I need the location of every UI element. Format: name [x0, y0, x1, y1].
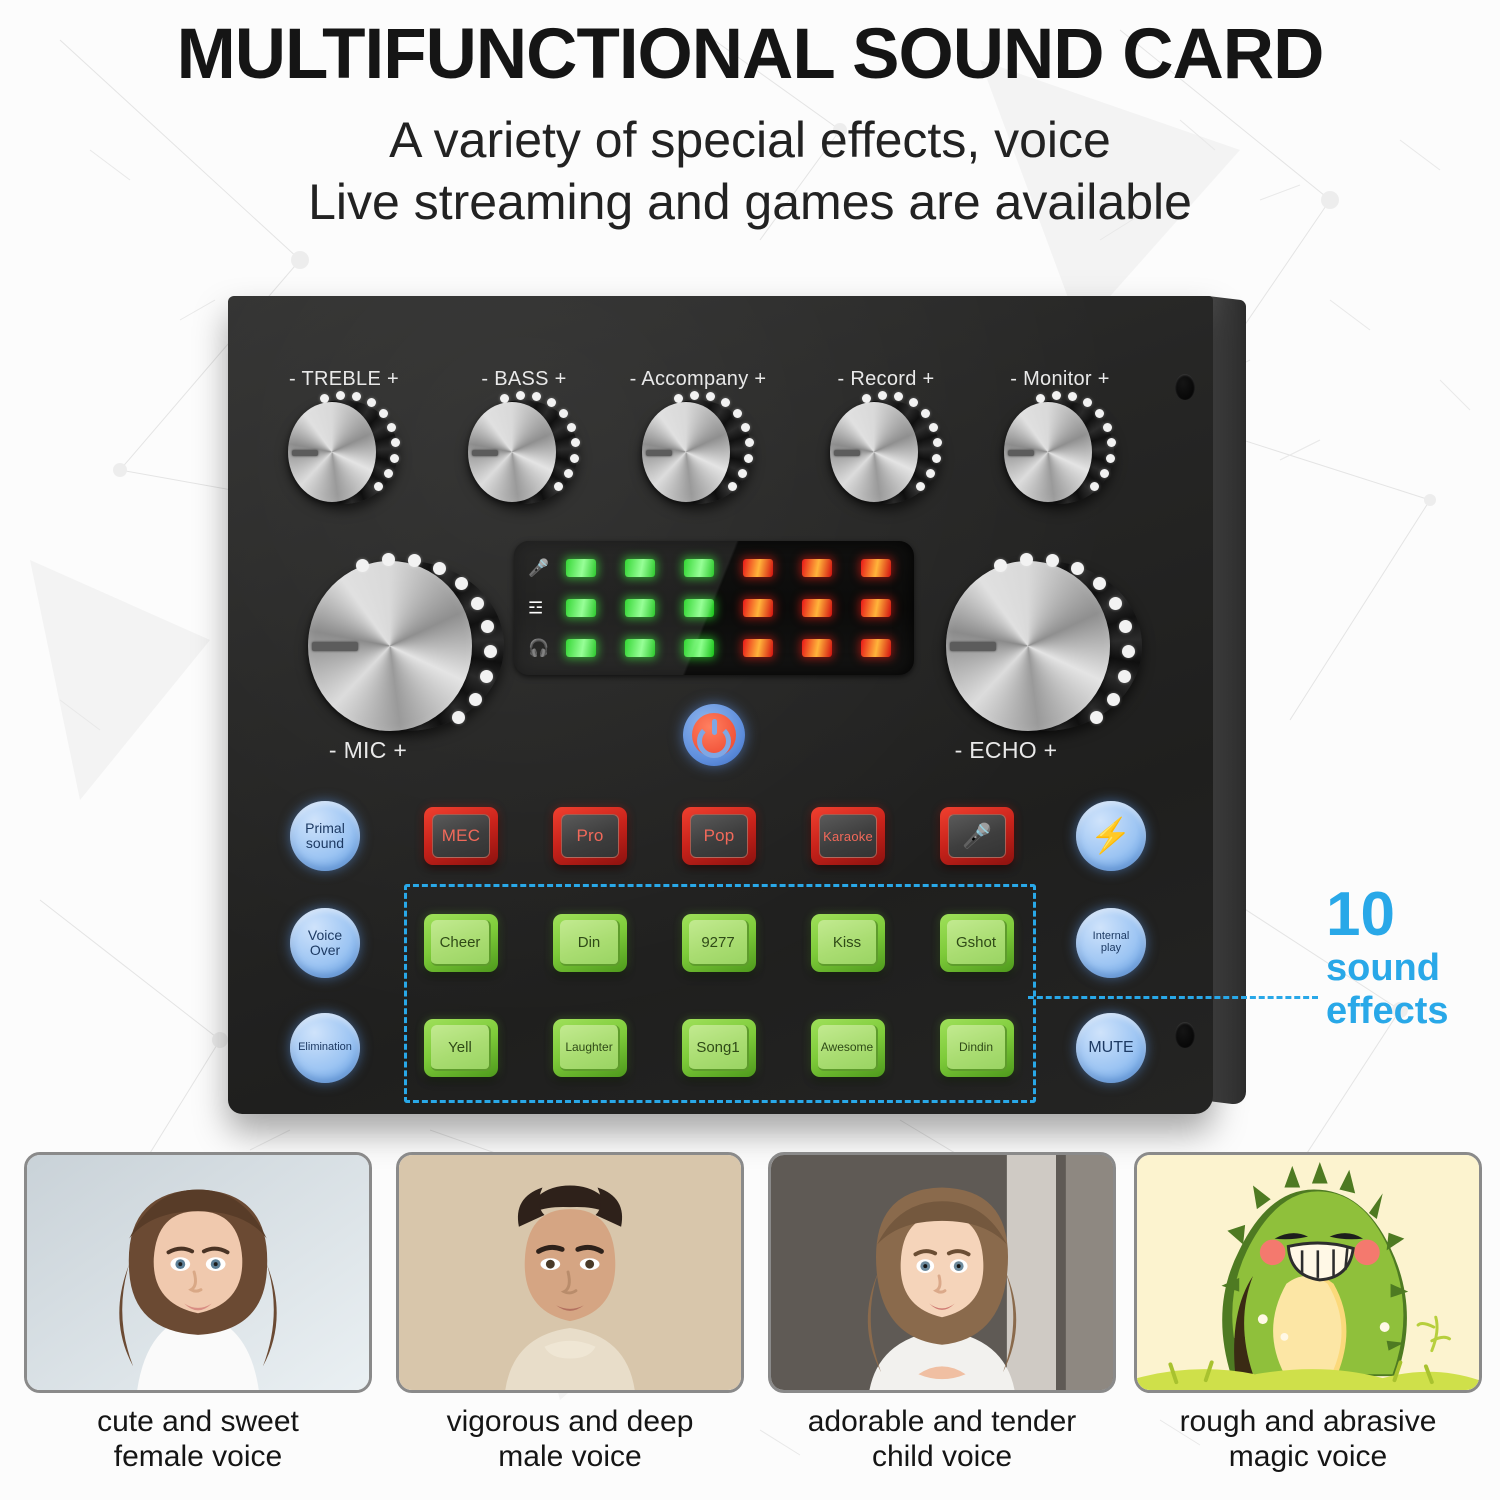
device-side-panel	[1208, 296, 1246, 1106]
voice-samples-strip: cute and sweet female voice	[0, 1152, 1500, 1500]
knob-bass[interactable]: - BASS +	[454, 368, 594, 508]
primal-sound-label: Primalsound	[305, 821, 345, 851]
caption-child-voice: adorable and tender child voice	[768, 1405, 1116, 1475]
mec-label: MEC	[432, 814, 490, 858]
screw-hole-bottom	[1175, 1022, 1195, 1048]
led-row-mic: 🎤	[514, 553, 914, 583]
caption-male-voice: vigorous and deep male voice	[396, 1405, 744, 1475]
knob-echo[interactable]: - ECHO +	[928, 551, 1158, 766]
caption-magic-voice: rough and abrasive magic voice	[1134, 1405, 1482, 1475]
knob-bass-indicator-dots	[454, 368, 594, 508]
knob-record-indicator-dots	[816, 368, 956, 508]
voice-sample-card-male: vigorous and deep male voice	[396, 1152, 744, 1475]
knob-record[interactable]: - Record +	[816, 368, 956, 508]
screw-hole-top	[1175, 374, 1195, 400]
lightning-bolt-icon: ⚡	[1090, 819, 1132, 853]
led-row-headphone: 🎧	[514, 633, 914, 663]
mute-label: MUTE	[1088, 1039, 1133, 1056]
pro-label: Pro	[561, 814, 619, 858]
knob-echo-label: - ECHO +	[955, 737, 1058, 764]
karaoke-label: Karaoke	[819, 814, 877, 858]
caption-female-voice: cute and sweet female voice	[24, 1405, 372, 1475]
mode-button-pop[interactable]: Pop	[682, 807, 756, 865]
mode-button-pro[interactable]: Pro	[553, 807, 627, 865]
knob-monitor[interactable]: - Monitor +	[990, 368, 1130, 508]
young-girl-photo	[768, 1152, 1116, 1393]
knob-treble-indicator-dots	[274, 368, 414, 508]
knob-mic-label: - MIC +	[329, 737, 407, 764]
headphone-icon: 🎧	[528, 640, 549, 657]
sound-effects-highlight-box	[404, 884, 1036, 1103]
flash-effect-button[interactable]: ⚡	[1076, 801, 1146, 871]
callout-leader-line	[1028, 996, 1318, 999]
internal-play-button[interactable]: Internalplay	[1076, 908, 1146, 978]
knob-treble[interactable]: - TREBLE +	[274, 368, 414, 508]
voice-over-label: VoiceOver	[308, 928, 342, 958]
subtitle-line-1: A variety of special effects, voice	[0, 109, 1500, 171]
knob-monitor-indicator-dots	[990, 368, 1130, 508]
elimination-button[interactable]: Elimination	[290, 1013, 360, 1083]
pop-label: Pop	[690, 814, 748, 858]
led-row-mixer: ☲	[514, 593, 914, 623]
power-icon	[692, 713, 736, 757]
mute-button[interactable]: MUTE	[1076, 1013, 1146, 1083]
elimination-label: Elimination	[298, 1042, 352, 1054]
voice-sample-card-child: adorable and tender child voice	[768, 1152, 1116, 1475]
mode-button-mec[interactable]: MEC	[424, 807, 498, 865]
sound-effects-callout: 10 sound effects	[1326, 884, 1500, 1032]
young-woman-photo	[24, 1152, 372, 1393]
mic-icon: 🎤	[528, 560, 549, 577]
green-monster-illustration	[1134, 1152, 1482, 1393]
knob-echo-indicator-dots	[928, 551, 1158, 766]
mode-button-karaoke[interactable]: Karaoke	[811, 807, 885, 865]
callout-number: 10	[1326, 884, 1500, 946]
mode-button-microphone[interactable]: 🎤	[940, 807, 1014, 865]
mixer-icon: ☲	[528, 600, 543, 617]
primal-sound-button[interactable]: Primalsound	[290, 801, 360, 871]
knob-accompany[interactable]: - Accompany +	[628, 368, 768, 508]
knob-mic-indicator-dots	[290, 551, 520, 766]
young-man-photo	[396, 1152, 744, 1393]
headline-block: MULTIFUNCTIONAL SOUND CARD A variety of …	[0, 18, 1500, 233]
voice-over-button[interactable]: VoiceOver	[290, 908, 360, 978]
page-subtitle: A variety of special effects, voice Live…	[0, 109, 1500, 233]
page-title: MULTIFUNCTIONAL SOUND CARD	[0, 18, 1500, 93]
led-indicator-panel: 🎤 ☲ 🎧	[514, 541, 914, 675]
subtitle-line-2: Live streaming and games are available	[0, 171, 1500, 233]
callout-line-1: sound	[1326, 948, 1500, 989]
knob-accompany-indicator-dots	[628, 368, 768, 508]
voice-sample-card-female: cute and sweet female voice	[24, 1152, 372, 1475]
callout-line-2: effects	[1326, 991, 1500, 1032]
power-button[interactable]	[683, 704, 745, 766]
knob-mic[interactable]: - MIC +	[290, 551, 520, 766]
voice-sample-card-magic: rough and abrasive magic voice	[1134, 1152, 1482, 1475]
microphone-icon: 🎤	[948, 814, 1006, 858]
internal-play-label: Internalplay	[1093, 931, 1130, 955]
